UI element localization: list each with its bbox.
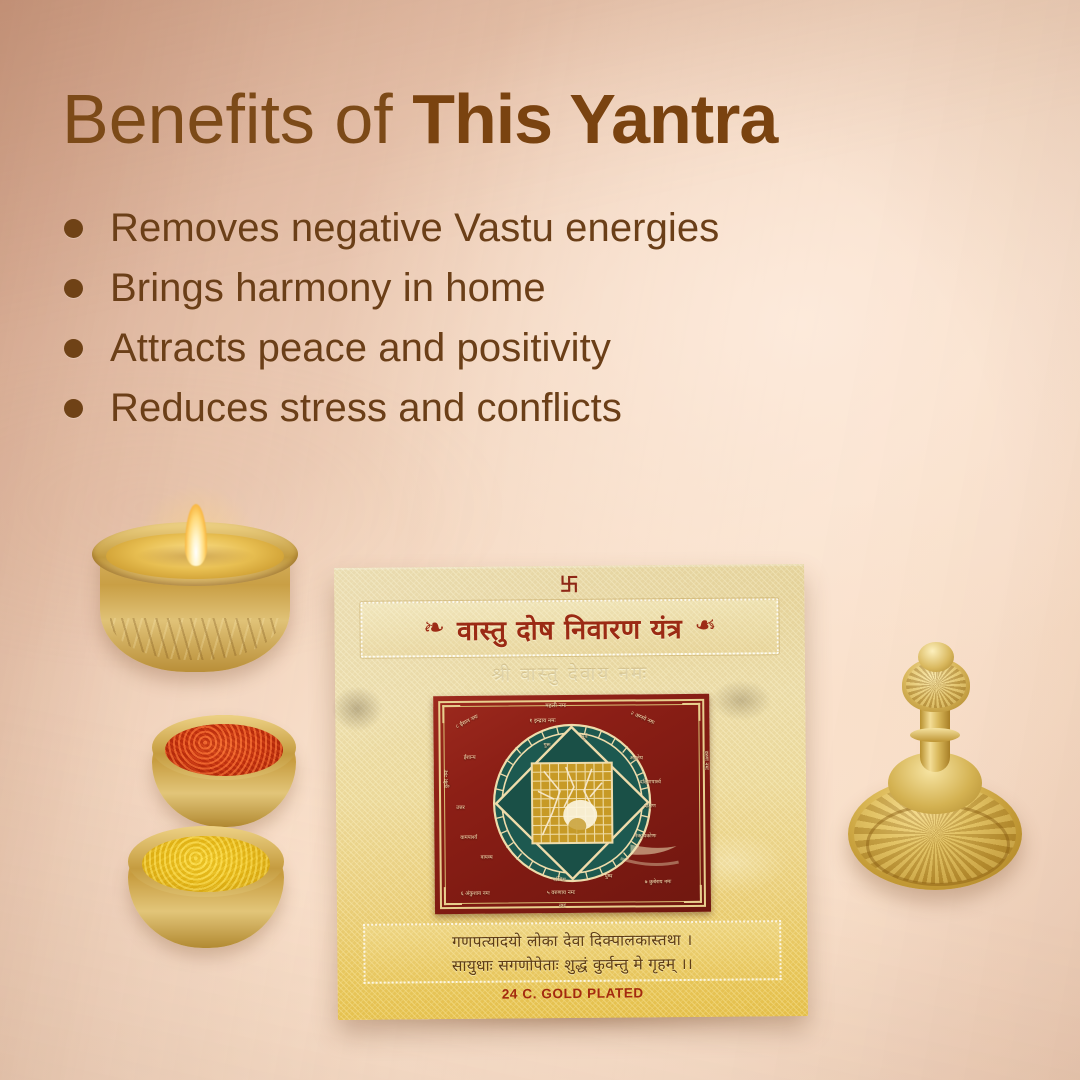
plate-verse-box: गणपत्यादयो लोका देवा दिक्पालकास्तथा । सा…: [363, 920, 782, 984]
yantra-direction-label: आग्नेय: [630, 756, 643, 762]
yantra-ring-label: ६ अंकुशाय नमः: [461, 892, 490, 897]
yantra-direction-label: पुष्प: [605, 875, 613, 880]
benefit-label: Brings harmony in home: [110, 268, 546, 308]
yantra-direction-label: गुरू: [544, 743, 551, 748]
yantra-direction-label: नैऋत्यकोणः: [634, 834, 656, 839]
plate-title: वास्तु दोष निवारण यंत्र: [457, 609, 682, 648]
brass-diya-lamp: [92, 500, 300, 690]
kumkum-bowl: [152, 715, 296, 827]
list-item: Reduces stress and conflicts: [64, 378, 719, 438]
benefit-label: Removes negative Vastu energies: [110, 208, 719, 248]
plate-smudge: [331, 686, 383, 732]
yantra-label-bottom: नमः: [559, 904, 566, 909]
page-title-light: Benefits of: [62, 80, 412, 158]
product-benefits-image: Benefits of This Yantra Removes negative…: [0, 0, 1080, 1080]
bell-base-ring: [866, 804, 1010, 886]
list-item: Removes negative Vastu energies: [64, 198, 719, 258]
yantra-label-left: कुबेर नमः: [445, 770, 451, 788]
bullet-dot-icon: [64, 339, 83, 358]
verse-line-2: सायुधाः सगणोपेताः शुद्धं कुर्वन्तु मे गृ…: [452, 952, 693, 976]
turmeric-powder: [142, 836, 270, 892]
plate-title-box: ❧ वास्तु दोष निवारण यंत्र ❧: [360, 598, 778, 658]
brass-puja-bell: [840, 636, 1030, 898]
benefit-label: Attracts peace and positivity: [110, 328, 611, 368]
plate-embossed-subtitle: श्री वास्तु देवाय नमः: [375, 656, 765, 689]
yantra-ring-label: ७ कुबेराय नमः: [645, 880, 671, 885]
yantra-direction-label: उत्तर: [456, 806, 465, 811]
floral-ornament-icon: ❧: [423, 614, 445, 640]
benefit-label: Reduces stress and conflicts: [110, 388, 622, 428]
bullet-dot-icon: [64, 219, 83, 238]
yantra-diagram: महली नमः नमः कुबेर नमः वरुण नमः १ इन्द्र…: [433, 694, 711, 914]
list-item: Attracts peace and positivity: [64, 318, 719, 378]
bullet-dot-icon: [64, 279, 83, 298]
bell-collar: [910, 728, 960, 742]
yantra-direction-label: पश्चिम: [553, 878, 566, 883]
bell-handle-knob: [918, 642, 954, 672]
yantra-direction-label: दक्षिण: [644, 804, 656, 809]
yantra-ring-label: ५ वरुणाय नमः: [547, 891, 575, 897]
yantra-direction-label: वामपार्श्व: [460, 836, 477, 841]
turmeric-bowl: [128, 826, 284, 948]
benefits-list: Removes negative Vastu energies Brings h…: [64, 198, 719, 438]
yantra-label-top: महली नमः: [545, 704, 566, 710]
page-title: Benefits of This Yantra: [62, 84, 777, 154]
kumkum-powder: [165, 724, 283, 776]
verse-line-1: गणपत्यादयो लोका देवा दिक्पालकास्तथा ।: [452, 928, 693, 952]
floral-ornament-icon: ❧: [694, 612, 716, 638]
yantra-label-right: वरुण नमः: [702, 751, 708, 770]
vastu-yantra-plate: 卐 ❧ वास्तु दोष निवारण यंत्र ❧ श्री वास्त…: [334, 564, 808, 1020]
yantra-direction-label: वायव्य: [481, 856, 493, 861]
yantra-ring-label: १ इन्द्राय नमः: [529, 719, 555, 725]
yantra-direction-label: पूर्व: [582, 735, 588, 740]
yantra-direction-label: दक्षिणपार्श्व: [640, 780, 661, 785]
bullet-dot-icon: [64, 399, 83, 418]
yantra-direction-label: ईशान्य: [464, 756, 476, 761]
list-item: Brings harmony in home: [64, 258, 719, 318]
swastika-icon: 卐: [560, 576, 579, 595]
page-title-bold: This Yantra: [412, 80, 777, 158]
